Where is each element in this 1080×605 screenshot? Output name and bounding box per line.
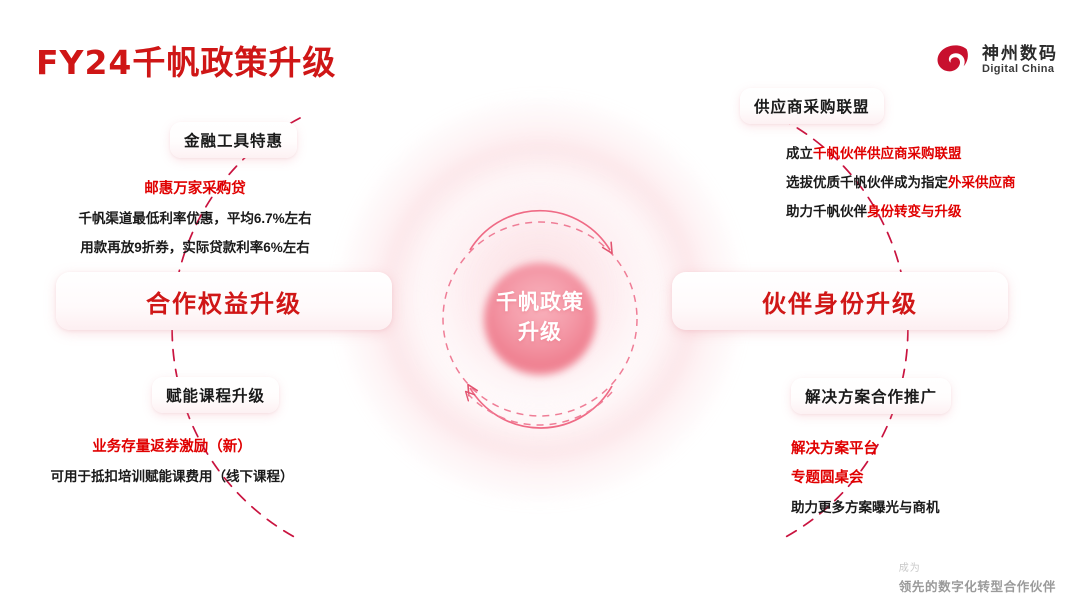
supply-text-block: 成立千帆伙伴供应商采购联盟 选拔优质千帆伙伴成为指定外采供应商 助力千帆伙伴身份… xyxy=(786,139,1016,226)
pill-partner-benefits-upgrade[interactable]: 合作权益升级 xyxy=(56,272,392,330)
arrow-arc-bottom xyxy=(470,386,612,428)
supply-line-3-plain: 助力千帆伙伴 xyxy=(786,204,867,219)
chip-course-upgrade-label: 赋能课程升级 xyxy=(166,384,265,406)
finance-text-block: 邮惠万家采购贷 千帆渠道最低利率优惠，平均6.7%左右 用款再放9折券，实际贷款… xyxy=(40,175,350,262)
supply-line-2: 选拔优质千帆伙伴成为指定外采供应商 xyxy=(786,168,1016,197)
chip-financial-tools[interactable]: 金融工具特惠 xyxy=(170,122,297,158)
slide-canvas: 千帆政策 升级 合作权益升级 伙伴身份升级 金融工具特惠 邮惠万家采购贷 千帆渠… xyxy=(0,0,1080,605)
chip-supplier-alliance[interactable]: 供应商采购联盟 xyxy=(740,88,884,124)
solution-text-block: 解决方案平台 专题圆桌会 助力更多方案曝光与商机 xyxy=(791,435,940,522)
chip-financial-tools-label: 金融工具特惠 xyxy=(184,129,283,151)
course-heading: 业务存量返券激励（新） xyxy=(22,433,322,462)
supply-line-1: 成立千帆伙伴供应商采购联盟 xyxy=(786,139,1016,168)
logo-wordmark: 神州数码 Digital China xyxy=(982,44,1058,75)
page-title: FY24千帆政策升级 xyxy=(36,36,336,84)
center-core-label: 千帆政策 升级 xyxy=(470,288,610,349)
chip-course-upgrade[interactable]: 赋能课程升级 xyxy=(152,377,279,413)
center-line-2: 升级 xyxy=(470,318,610,348)
chip-solution-promotion-label: 解决方案合作推广 xyxy=(805,385,937,407)
brand-logo: 神州数码 Digital China xyxy=(933,40,1058,80)
supply-line-1-highlight: 千帆伙伴供应商采购联盟 xyxy=(813,146,962,161)
supply-line-3-highlight: 身份转变与升级 xyxy=(867,204,962,219)
finance-heading: 邮惠万家采购贷 xyxy=(40,175,350,204)
footer-slogan-top: 成为 xyxy=(899,562,1056,576)
solution-heading-2: 专题圆桌会 xyxy=(791,464,940,493)
digital-china-swirl-icon xyxy=(933,40,973,80)
finance-line-1: 千帆渠道最低利率优惠，平均6.7%左右 xyxy=(40,204,350,233)
footer-slogan-main: 领先的数字化转型合作伙伴 xyxy=(899,576,1056,595)
supply-line-2-plain: 选拔优质千帆伙伴成为指定 xyxy=(786,175,948,190)
footer-slogan: 成为 领先的数字化转型合作伙伴 xyxy=(899,562,1056,595)
logo-name-en: Digital China xyxy=(982,63,1058,75)
center-line-1: 千帆政策 xyxy=(470,288,610,318)
course-text-block: 业务存量返券激励（新） 可用于抵扣培训赋能课费用（线下课程） xyxy=(22,433,322,491)
supply-line-3: 助力千帆伙伴身份转变与升级 xyxy=(786,197,1016,226)
solution-heading-1: 解决方案平台 xyxy=(791,435,940,464)
solution-line-1: 助力更多方案曝光与商机 xyxy=(791,493,940,522)
course-line-1: 可用于抵扣培训赋能课费用（线下课程） xyxy=(22,462,322,491)
finance-line-2: 用款再放9折券，实际贷款利率6%左右 xyxy=(40,233,350,262)
chip-solution-promotion[interactable]: 解决方案合作推广 xyxy=(791,378,951,414)
supply-line-2-highlight: 外采供应商 xyxy=(948,175,1016,190)
dashed-arrow-bottom xyxy=(468,392,612,425)
supply-line-1-plain: 成立 xyxy=(786,146,813,161)
logo-name-cn: 神州数码 xyxy=(982,44,1058,63)
chip-supplier-alliance-label: 供应商采购联盟 xyxy=(754,95,870,117)
pill-partner-identity-upgrade[interactable]: 伙伴身份升级 xyxy=(672,272,1008,330)
pill-right-label: 伙伴身份升级 xyxy=(762,284,918,319)
arrow-arc-top xyxy=(470,211,610,250)
pill-left-label: 合作权益升级 xyxy=(146,284,302,319)
